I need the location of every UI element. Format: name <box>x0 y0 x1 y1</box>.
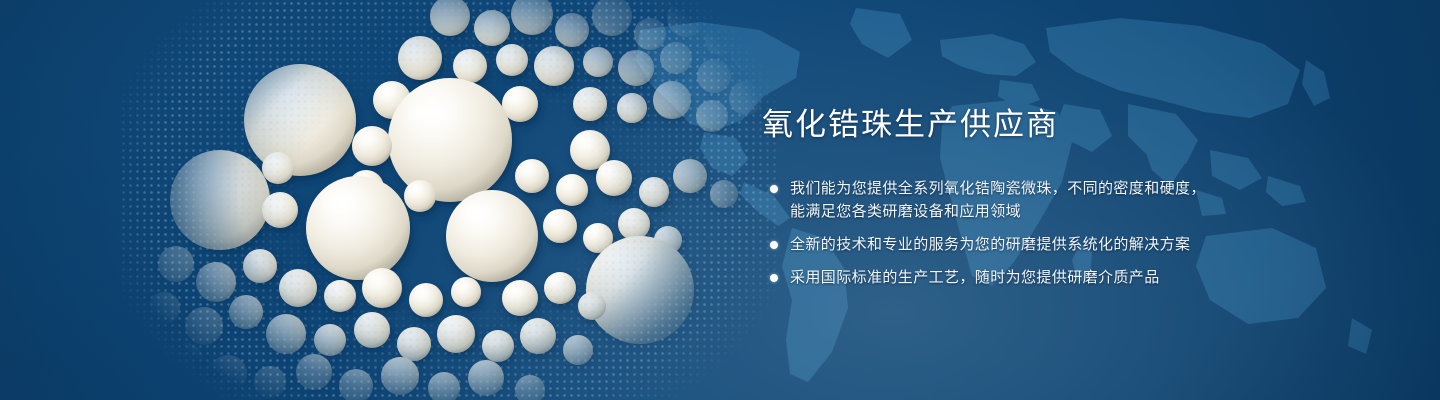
list-item: 我们能为您提供全系列氧化锆陶瓷微珠，不同的密度和硬度， 能满足您各类研磨设备和应… <box>762 177 1382 223</box>
bullet-dot-icon <box>770 241 778 249</box>
page-title: 氧化锆珠生产供应商 <box>762 108 1382 143</box>
bullet-dot-icon <box>770 274 778 282</box>
feature-list: 我们能为您提供全系列氧化锆陶瓷微珠，不同的密度和硬度， 能满足您各类研磨设备和应… <box>762 177 1382 289</box>
zirconia-beads-photo <box>120 0 780 400</box>
list-item: 全新的技术和专业的服务为您的研磨提供系统化的解决方案 <box>762 233 1382 256</box>
bullet-dot-icon <box>770 185 778 193</box>
list-item-line: 能满足您各类研磨设备和应用领域 <box>790 200 1382 223</box>
banner-content: 氧化锆珠生产供应商 我们能为您提供全系列氧化锆陶瓷微珠，不同的密度和硬度， 能满… <box>762 108 1382 289</box>
hero-banner: 氧化锆珠生产供应商 我们能为您提供全系列氧化锆陶瓷微珠，不同的密度和硬度， 能满… <box>0 0 1440 400</box>
list-item-line: 采用国际标准的生产工艺，随时为您提供研磨介质产品 <box>790 266 1382 289</box>
list-item-line: 我们能为您提供全系列氧化锆陶瓷微珠，不同的密度和硬度， <box>790 177 1382 200</box>
list-item-line: 全新的技术和专业的服务为您的研磨提供系统化的解决方案 <box>790 233 1382 256</box>
list-item: 采用国际标准的生产工艺，随时为您提供研磨介质产品 <box>762 266 1382 289</box>
